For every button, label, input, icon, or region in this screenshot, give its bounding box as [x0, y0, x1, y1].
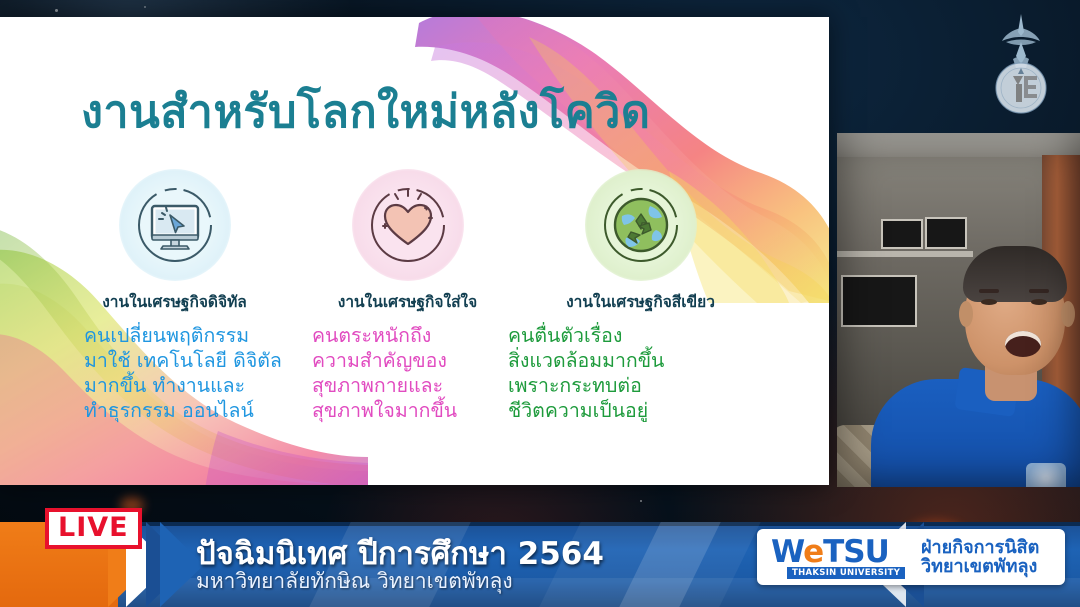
wetsu-letter-w: W	[771, 534, 803, 570]
card-label: งานในเศรษฐกิจใส่ใจ	[338, 289, 477, 314]
department-line-2: วิทยาเขตพัทลุง	[921, 557, 1039, 576]
banner-subtitle: มหาวิทยาลัยทักษิณ วิทยาเขตพัทลุง	[196, 565, 513, 598]
live-badge: LIVE	[45, 508, 142, 549]
wetsu-letter-e: e	[803, 534, 823, 570]
description-column-row: คนเปลี่ยนพฤติกรรม มาใช้ เทคโนโลยี ดิจิตั…	[84, 323, 784, 423]
card-care-economy: งานในเศรษฐกิจใส่ใจ	[291, 169, 524, 314]
card-digital-economy: งานในเศรษฐกิจดิจิทัล	[58, 169, 291, 314]
sparkle-dot	[640, 500, 642, 502]
description-digital: คนเปลี่ยนพฤติกรรม มาใช้ เทคโนโลยี ดิจิตั…	[84, 323, 312, 423]
wetsu-logomark: WeTSU THAKSIN UNIVERSITY	[765, 532, 915, 582]
monitor-cursor-icon	[132, 182, 218, 268]
description-care: คนตระหนักถึง ความสำคัญของ สุขภาพกายและ ส…	[312, 323, 508, 423]
sparkle-dot	[144, 6, 146, 8]
slide-title: งานสำหรับโลกใหม่หลังโควิด	[81, 75, 650, 147]
icon-card-row: งานในเศรษฐกิจดิจิทัล งานใ	[58, 169, 758, 314]
wetsu-wordmark: WeTSU	[771, 534, 889, 570]
wetsu-logo-block: WeTSU THAKSIN UNIVERSITY ฝ่ายกิจการนิสิต…	[757, 529, 1065, 585]
icon-badge-digital	[119, 169, 231, 281]
card-label: งานในเศรษฐกิจดิจิทัล	[102, 289, 247, 314]
heart-sparkle-icon	[365, 182, 451, 268]
wetsu-letters-tsu: TSU	[823, 534, 889, 570]
card-green-economy: งานในเศรษฐกิจสีเขียว	[524, 169, 757, 314]
wetsu-department-text: ฝ่ายกิจการนิสิต วิทยาเขตพัทลุง	[921, 538, 1039, 577]
description-green: คนตื่นตัวเรื่อง สิ่งแวดล้อมมากขึ้น เพราะ…	[508, 323, 724, 423]
icon-badge-care	[352, 169, 464, 281]
icon-badge-green	[585, 169, 697, 281]
speaker-webcam-feed[interactable]	[837, 133, 1080, 487]
card-label: งานในเศรษฐกิจสีเขียว	[566, 289, 715, 314]
sparkle-dot	[55, 9, 58, 12]
broadcast-stream-screen: งานสำหรับโลกใหม่หลังโควิด	[0, 0, 1080, 607]
camera-vignette	[837, 133, 1080, 487]
globe-recycle-icon	[598, 182, 684, 268]
department-line-1: ฝ่ายกิจการนิสิต	[921, 538, 1039, 557]
university-emblem-watermark	[980, 6, 1062, 114]
presentation-slide: งานสำหรับโลกใหม่หลังโควิด	[0, 17, 829, 485]
wetsu-caption: THAKSIN UNIVERSITY	[787, 567, 905, 579]
